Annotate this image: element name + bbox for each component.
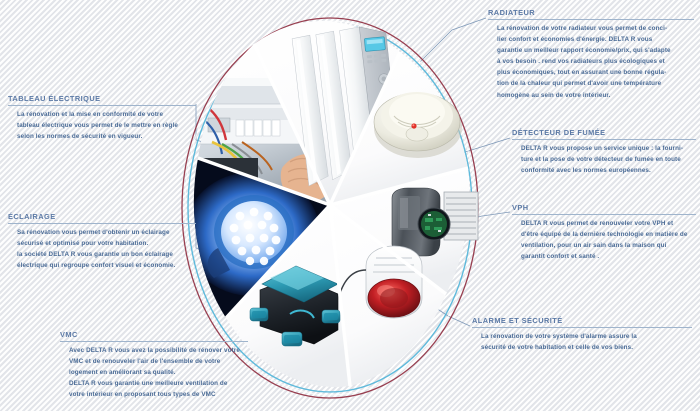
callout-line: garantit confort et santé .	[521, 251, 696, 262]
callout-body-radiateur: La rénovation de votre radiateur vous pe…	[488, 23, 694, 101]
callout-line: VMC et de renouveler l'air de l'ensemble…	[69, 356, 248, 367]
callout-line: plus économiques, tout en assurant une b…	[497, 67, 694, 78]
callout-line: conformité avec les normes européennes.	[521, 165, 696, 176]
callout-body-alarme-et-securite: La rénovation de votre système d'alarme …	[472, 331, 692, 353]
callout-body-vmc: Avec DELTA R vous avez la possibilité de…	[60, 345, 248, 400]
callout-line: La rénovation de votre radiateur vous pe…	[497, 23, 694, 34]
callout-title-detecteur-de-fumee: DÉTECTEUR DE FUMÉE	[512, 128, 696, 140]
callout-body-vph: DELTA R vous permet de renouveler votre …	[512, 218, 696, 262]
callout-body-detecteur-de-fumee: DELTA R vous propose un service unique :…	[512, 143, 696, 176]
callout-line: d'être équipé de la dernière technologie…	[521, 229, 696, 240]
callout-title-tableau-electrique: TABLEAU ÉLECTRIQUE	[8, 94, 196, 106]
infographic-poster: TABLEAU ÉLECTRIQUE La rénovation et la m…	[0, 0, 700, 411]
callout-line: La rénovation et la mise en conformité d…	[17, 109, 196, 120]
callout-line: DELTA R vous garantie une meilleure vent…	[69, 378, 248, 389]
callout-line: garantie un meilleur rapport économie/pr…	[497, 45, 694, 56]
callout-line: sécurité de votre habitation et celle de…	[481, 342, 692, 353]
callout-line: ture et la pose de votre détecteur de fu…	[521, 154, 696, 165]
callout-line: DELTA R vous propose un service unique :…	[521, 143, 696, 154]
callout-vmc: VMC Avec DELTA R vous avez la possibilit…	[60, 330, 248, 400]
callout-line: lier confort et économies d'énergie. DEL…	[497, 34, 694, 45]
callout-title-alarme-et-securite: ALARME ET SÉCURITÉ	[472, 316, 692, 328]
callout-title-vmc: VMC	[60, 330, 248, 342]
callout-detecteur-de-fumee: DÉTECTEUR DE FUMÉE DELTA R vous propose …	[512, 128, 696, 176]
ventilation-unit-photo	[392, 188, 478, 256]
callout-tableau-electrique: TABLEAU ÉLECTRIQUE La rénovation et la m…	[8, 94, 196, 142]
callout-body-tableau-electrique: La rénovation et la mise en conformité d…	[8, 109, 196, 142]
callout-line: votre intérieur en proposant tous types …	[69, 389, 248, 400]
callout-line: tion de la chaleur qui permet d'avoir un…	[497, 78, 694, 89]
callout-line: la société DELTA R vous garantie un bon …	[17, 249, 196, 260]
smoke-detector-photo	[374, 92, 462, 158]
callout-line: homogène au sein de votre intérieur.	[497, 90, 694, 101]
callout-line: électrique qui regroupe confort visuel e…	[17, 260, 196, 271]
callout-line: logement en améliorant sa qualité.	[69, 367, 248, 378]
callout-title-radiateur: RADIATEUR	[488, 8, 694, 20]
callout-body-eclairage: Sa rénovation vous permet d'obtenir un é…	[8, 227, 196, 271]
callout-vph: VPH DELTA R vous permet de renouveler vo…	[512, 203, 696, 262]
callout-line: La rénovation de votre système d'alarme …	[481, 331, 692, 342]
callout-title-eclairage: ÉCLAIRAGE	[8, 212, 196, 224]
callout-line: selon les normes de sécurité en vigueur.	[17, 131, 196, 142]
callout-line: à vos besoin . rend vos radiateurs plus …	[497, 56, 694, 67]
callout-line: tableau électrique vous permet de le met…	[17, 120, 196, 131]
callout-line: DELTA R vous permet de renouveler votre …	[521, 218, 696, 229]
callout-alarme-et-securite: ALARME ET SÉCURITÉ La rénovation de votr…	[472, 316, 692, 353]
callout-eclairage: ÉCLAIRAGE Sa rénovation vous permet d'ob…	[8, 212, 196, 271]
callout-line: ventilation, pour un air sain dans la ma…	[521, 240, 696, 251]
callout-line: sécurisé et optimisé pour votre habitati…	[17, 238, 196, 249]
callout-line: Sa rénovation vous permet d'obtenir un é…	[17, 227, 196, 238]
callout-title-vph: VPH	[512, 203, 696, 215]
callout-line: Avec DELTA R vous avez la possibilité de…	[69, 345, 248, 356]
callout-radiateur: RADIATEUR La rénovation de votre radiate…	[488, 8, 694, 101]
